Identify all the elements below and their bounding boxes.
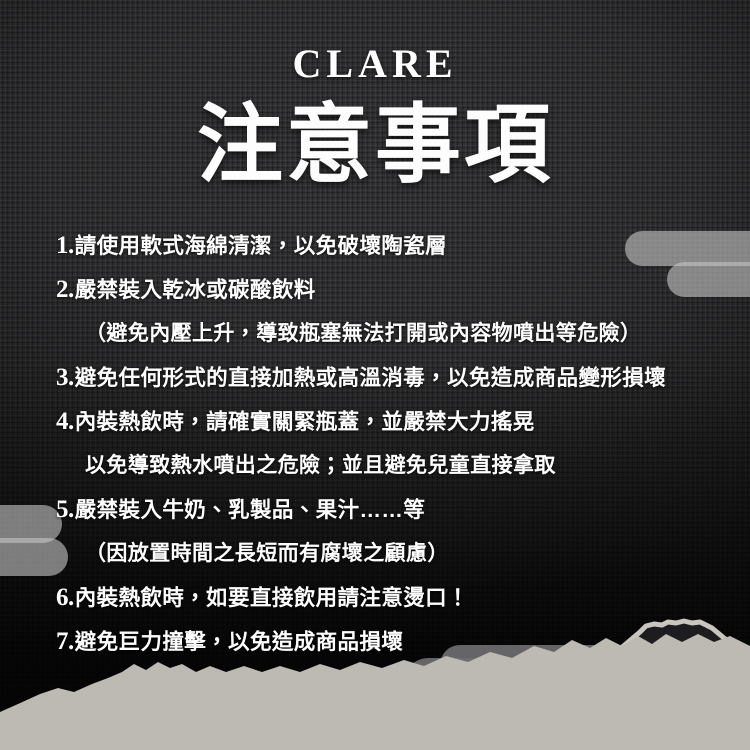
notice-number-2: 2. — [56, 270, 74, 310]
notice-text-3: 避免任何形式的直接加熱或高溫消毒，以免造成商品變形損壞 — [75, 358, 666, 398]
page-title: 注意事項 — [0, 100, 750, 191]
notice-item-3: 3. 避免任何形式的直接加熱或高溫消毒，以免造成商品變形損壞 — [56, 358, 730, 398]
notice-item-6: 6. 內裝熱飲時，如要直接飲用請注意燙口！ — [56, 578, 730, 618]
notice-item-7: 7. 避免巨力撞擊，以免造成商品損壞 — [56, 622, 730, 662]
notice-item-2: 2. 嚴禁裝入乾冰或碳酸飲料 — [56, 270, 730, 310]
notice-text-5: 嚴禁裝入牛奶、乳製品、果汁……等 — [75, 490, 425, 530]
notice-text-7: 避免巨力撞擊，以免造成商品損壞 — [75, 622, 404, 662]
notice-text-1: 請使用軟式海綿清潔，以免破壞陶瓷層 — [75, 226, 447, 266]
notice-subtext-4: 以免導致熱水噴出之危險；並且避免兒童直接拿取 — [85, 446, 730, 486]
notice-number-5: 5. — [56, 490, 74, 530]
notice-item-1: 1. 請使用軟式海綿清潔，以免破壞陶瓷層 — [56, 226, 730, 266]
notice-item-5: 5. 嚴禁裝入牛奶、乳製品、果汁……等 — [56, 490, 730, 530]
notice-item-4: 4. 內裝熱飲時，請確實關緊瓶蓋，並嚴禁大力搖晃 — [56, 402, 730, 442]
notice-text-6: 內裝熱飲時，如要直接飲用請注意燙口！ — [75, 578, 469, 618]
notice-number-1: 1. — [56, 226, 74, 266]
notice-subtext-2: （避免內壓上升，導致瓶塞無法打開或內容物噴出等危險） — [85, 314, 730, 354]
notice-number-3: 3. — [56, 358, 74, 398]
notice-list: 1. 請使用軟式海綿清潔，以免破壞陶瓷層 2. 嚴禁裝入乾冰或碳酸飲料 （避免內… — [56, 226, 730, 666]
poster-content: CLARE 注意事項 1. 請使用軟式海綿清潔，以免破壞陶瓷層 2. 嚴禁裝入乾… — [0, 0, 750, 750]
notice-subtext-5: （因放置時間之長短而有腐壞之顧慮） — [85, 534, 730, 574]
notice-number-4: 4. — [56, 402, 74, 442]
brand-logo: CLARE — [0, 40, 750, 87]
notice-text-4: 內裝熱飲時，請確實關緊瓶蓋，並嚴禁大力搖晃 — [75, 402, 535, 442]
notice-number-6: 6. — [56, 578, 74, 618]
notice-poster: CLARE 注意事項 1. 請使用軟式海綿清潔，以免破壞陶瓷層 2. 嚴禁裝入乾… — [0, 0, 750, 750]
notice-text-2: 嚴禁裝入乾冰或碳酸飲料 — [75, 270, 316, 310]
notice-number-7: 7. — [56, 622, 74, 662]
